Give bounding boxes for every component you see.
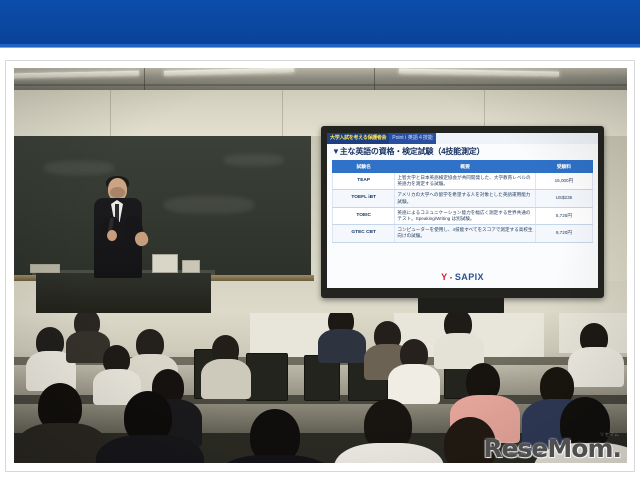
slide-logo-separator: ・ [447,275,454,282]
slide-topbar-right-label [436,133,598,144]
wall-seam-2 [282,90,283,136]
audience-person [24,383,100,463]
watermark-period: . [613,434,622,463]
audience-person [434,313,482,367]
audience-person [226,409,322,463]
exam-fee: 15,000円 [535,173,592,190]
podium [36,273,211,313]
slide-table-header-row: 試験名 概要 受験料 [333,161,593,173]
chalk-smudge-1 [44,161,114,175]
audience-body [201,359,251,399]
chalk-smudge-3 [224,154,284,166]
exam-name: GTEC CBT [333,225,395,242]
audience-person [344,399,432,463]
audience-body [214,455,336,463]
exam-name: TOEFL iBT [333,190,395,207]
page-content-area: 大学入試を考える保護者会 Point Ⅰ 英語４技能 ▼主な英語の資格・検定試験… [0,48,640,488]
watermark-subtitle: リセマム [600,433,619,438]
audience-person [390,339,438,401]
slide-topbar-mid-label: Point Ⅰ 英語４技能 [389,133,436,144]
photo-frame-panel: 大学入試を考える保護者会 Point Ⅰ 英語４技能 ▼主な英語の資格・検定試験… [5,60,635,472]
presentation-display: 大学入試を考える保護者会 Point Ⅰ 英語４技能 ▼主な英語の資格・検定試験… [321,126,604,298]
ceiling-seam-2 [374,68,375,90]
presenter-figure [90,178,152,278]
slide-title: ▼主な英語の資格・検定試験（4技能測定） [332,146,484,157]
slide-topbar: 大学入試を考える保護者会 Point Ⅰ 英語４技能 [327,133,598,144]
slide-logo-name: SAPIX [455,272,484,282]
ceiling-seam-1 [144,68,145,90]
exam-summary: アメリカの大学への留学を希望する人を対象とした英語運用能力試験。 [395,190,535,207]
slide-title-marker-icon: ▼ [332,147,340,156]
desk-equipment-box-1 [152,254,178,273]
table-row: TEAP 上智大学と日本英語検定協会が共同開発した、大学教育レベルの英語力を測定… [333,173,593,190]
audience-person [106,391,192,463]
desk-equipment-box-2 [182,260,200,273]
desk-equipment-box-3 [30,264,60,273]
resemom-watermark: リセマム ReseMom. [483,436,621,461]
exam-summary: 英語によるコミュニケーション能力を幅広く測定する世界共通のテスト。Speakin… [395,207,535,224]
presenter-face-shadow [110,187,125,198]
site-header-banner [0,0,640,44]
slide-topbar-left-label: 大学入試を考える保護者会 [327,133,389,144]
presenter-left-hand [107,230,117,241]
audience-person [320,313,364,359]
table-row: TOEIC 英語によるコミュニケーション能力を幅広く測定する世界共通のテスト。S… [333,207,593,224]
exam-fee: US$235 [535,190,592,207]
exam-summary: コンピューターを使用し、4技能すべてをスコアで測定する高校生向けの試験。 [395,225,535,242]
slide-brand-logo: Y・SAPIX [327,272,598,283]
slide-title-text: 主な英語の資格・検定試験（4技能測定） [340,147,485,156]
slide-table-header-fee: 受験料 [535,161,592,173]
table-row: GTEC CBT コンピューターを使用し、4技能すべてをスコアで測定する高校生向… [333,225,593,242]
chalk-smudge-2 [164,196,254,214]
audience-body [318,329,366,363]
slide-table-header-name: 試験名 [333,161,395,173]
watermark-text: ReseMom [483,434,612,463]
exam-summary: 上智大学と日本英語検定協会が共同開発した、大学教育レベルの英語力を測定する試験。 [395,173,535,190]
exam-name: TOEIC [333,207,395,224]
slide-content: 大学入試を考える保護者会 Point Ⅰ 英語４技能 ▼主な英語の資格・検定試験… [327,133,598,288]
exam-name: TEAP [333,173,395,190]
audience-body [16,423,108,463]
audience-person [202,335,250,395]
audience-body [388,364,440,404]
slide-table-header-summary: 概要 [395,161,535,173]
chair [246,353,288,401]
wall-seam-1 [110,90,111,136]
exam-fee: 5,725円 [535,207,592,224]
ceiling-seam-3 [14,84,627,86]
table-row: TOEFL iBT アメリカの大学への留学を希望する人を対象とした英語運用能力試… [333,190,593,207]
audience-body [96,435,204,463]
article-photo: 大学入試を考える保護者会 Point Ⅰ 英語４技能 ▼主な英語の資格・検定試験… [14,68,627,463]
exam-fee: 9,720円 [535,225,592,242]
slide-table: 試験名 概要 受験料 TEAP 上智大学と日本英語検定協会が共同開発した、大学教… [332,160,593,243]
